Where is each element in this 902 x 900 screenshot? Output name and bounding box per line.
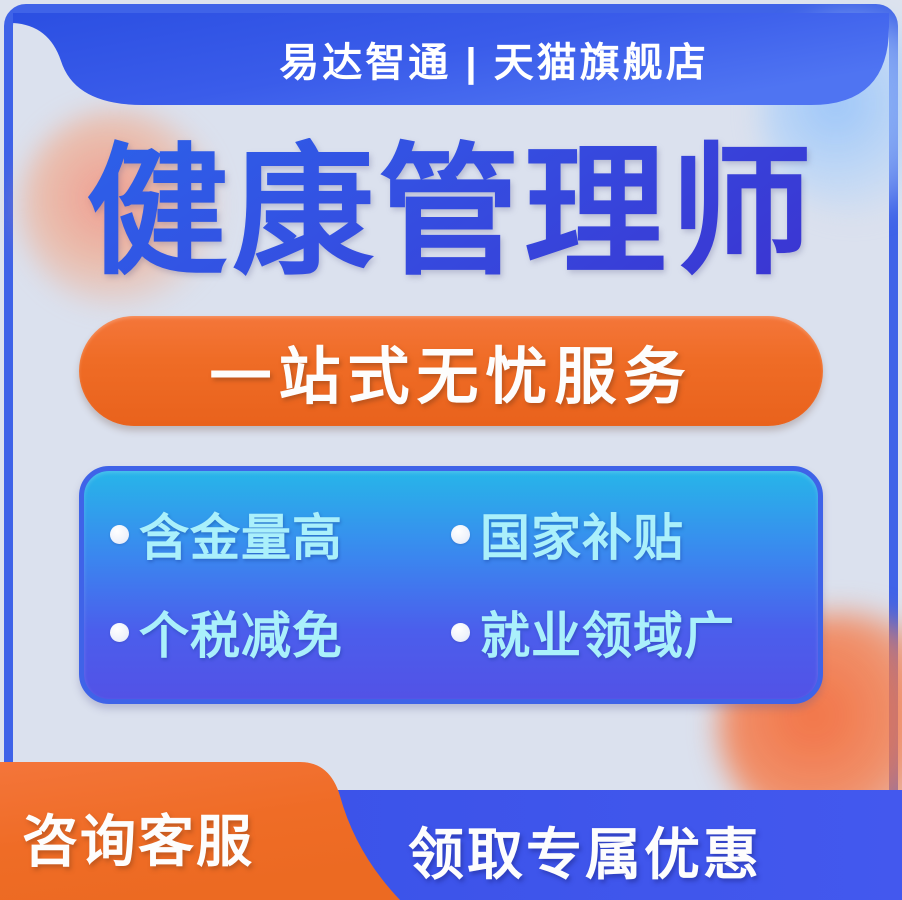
feature-label: 国家补贴 <box>480 498 684 570</box>
feature-label: 就业领域广 <box>480 596 735 668</box>
bullet-dot-icon <box>110 623 129 642</box>
bullet-dot-icon <box>110 525 129 544</box>
feature-label: 个税减免 <box>139 596 343 668</box>
service-pill-label: 一站式无忧服务 <box>209 326 692 416</box>
feature-item: 就业领域广 <box>451 596 792 668</box>
bullet-dot-icon <box>451 525 470 544</box>
feature-label: 含金量高 <box>139 498 343 570</box>
service-pill-badge: 一站式无忧服务 <box>79 316 823 426</box>
page-title: 健康管理师 <box>0 138 902 287</box>
header-banner: 易达智通 | 天猫旗舰店 <box>13 13 889 123</box>
promo-poster: 易达智通 | 天猫旗舰店 健康管理师 一站式无忧服务 含金量高 国家补贴 个税减… <box>0 0 902 900</box>
consult-support-button[interactable]: 咨询客服 <box>22 797 254 878</box>
feature-item: 个税减免 <box>110 596 451 668</box>
feature-item: 含金量高 <box>110 498 451 570</box>
bullet-dot-icon <box>451 623 470 642</box>
feature-item: 国家补贴 <box>451 498 792 570</box>
claim-offer-button[interactable]: 领取专属优惠 <box>408 810 762 891</box>
cta-bar: 咨询客服 领取专属优惠 <box>0 750 902 900</box>
features-panel: 含金量高 国家补贴 个税减免 就业领域广 <box>79 466 823 704</box>
header-title: 易达智通 | 天猫旗舰店 <box>13 13 889 105</box>
